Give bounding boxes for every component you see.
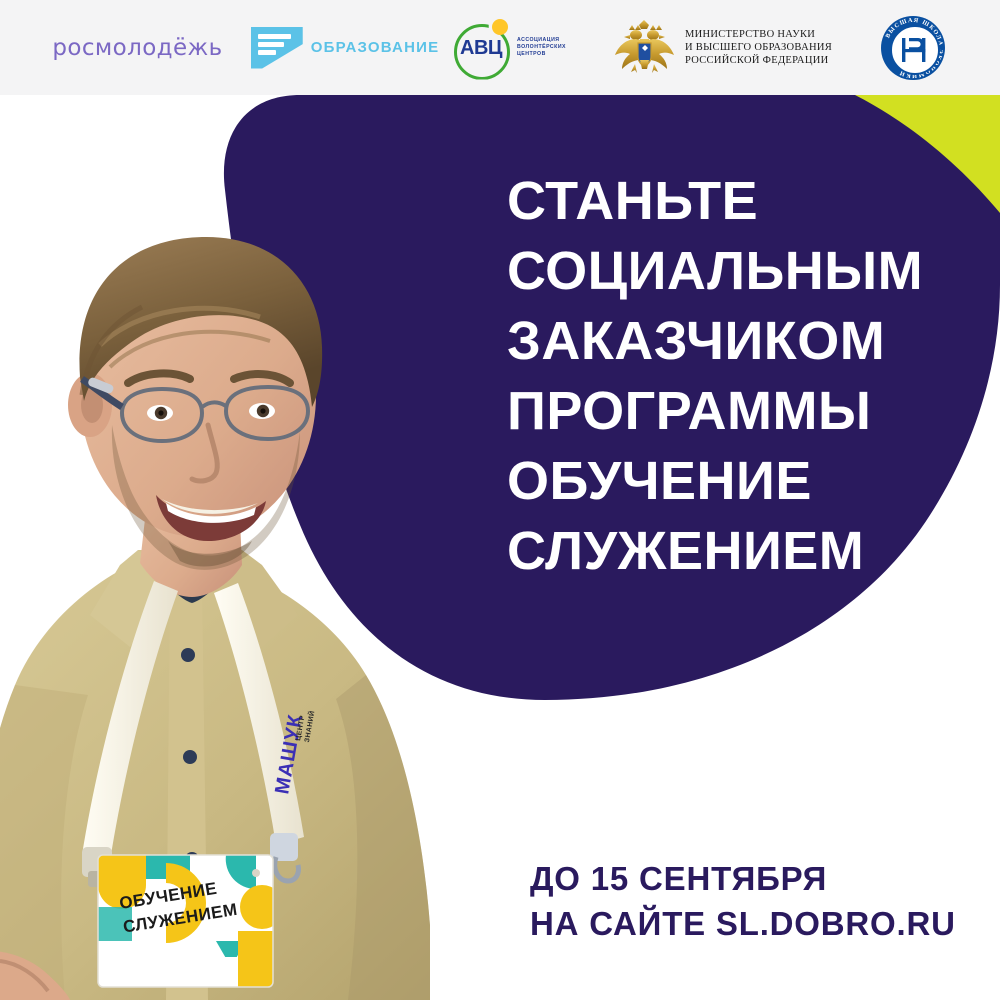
photo-smiling-man: МАШУК ЦЕНТР ЗНАНИЙ — [0, 95, 530, 1000]
logo-avc: АВЦ АССОЦИАЦИЯ ВОЛОНТЁРСКИХ ЦЕНТРОВ — [438, 0, 598, 95]
hse-monogram — [892, 27, 938, 73]
double-headed-eagle-icon — [613, 19, 675, 77]
minobrnauki-line1: МИНИСТЕРСТВО НАУКИ — [685, 28, 832, 41]
avc-abbr: АВЦ — [452, 37, 510, 60]
headline-line-3: ЗАКАЗЧИКОМ — [507, 306, 977, 376]
logo-natsproekty-obrazovanie: ОБРАЗОВАНИЕ — [253, 0, 438, 95]
hse-seal-icon: ВЫСШАЯ ШКОЛА ЭКОНОМИКИ — [881, 16, 945, 80]
minobrnauki-line2: И ВЫСШЕГО ОБРАЗОВАНИЯ — [685, 41, 832, 54]
headline-block: СТАНЬТЕ СОЦИАЛЬНЫМ ЗАКАЗЧИКОМ ПРОГРАММЫ … — [507, 166, 977, 586]
cta-block: ДО 15 СЕНТЯБРЯ НА САЙТЕ SL.DOBRO.RU — [530, 856, 956, 946]
logo-hse: ВЫСШАЯ ШКОЛА ЭКОНОМИКИ — [848, 0, 978, 95]
partner-logo-band: росмолодёжь ОБРАЗОВАНИЕ АВЦ АССОЦИАЦИЯ В… — [0, 0, 1000, 95]
logo-rosmolodezh: росмолодёжь — [23, 0, 253, 95]
poster-canvas: росмолодёжь ОБРАЗОВАНИЕ АВЦ АССОЦИАЦИЯ В… — [0, 0, 1000, 1000]
rosmolodezh-wordmark: росмолодёжь — [52, 35, 222, 61]
headline-line-1: СТАНЬТЕ — [507, 166, 977, 236]
natsproekty-flag-icon — [251, 27, 303, 69]
avc-circle-icon: АВЦ — [452, 19, 510, 77]
headline-line-2: СОЦИАЛЬНЫМ — [507, 236, 977, 306]
cta-website[interactable]: НА САЙТЕ SL.DOBRO.RU — [530, 901, 956, 946]
headline-line-4: ПРОГРАММЫ — [507, 376, 977, 446]
avc-subtitle: АССОЦИАЦИЯ ВОЛОНТЁРСКИХ ЦЕНТРОВ — [517, 37, 583, 58]
headline-line-5: ОБУЧЕНИЕ — [507, 446, 977, 516]
obrazovanie-wordmark: ОБРАЗОВАНИЕ — [311, 39, 440, 56]
logo-minobrnauki: МИНИСТЕРСТВО НАУКИ И ВЫСШЕГО ОБРАЗОВАНИЯ… — [598, 0, 848, 95]
headline-line-6: СЛУЖЕНИЕМ — [507, 516, 977, 586]
minobrnauki-title: МИНИСТЕРСТВО НАУКИ И ВЫСШЕГО ОБРАЗОВАНИЯ… — [685, 28, 832, 67]
minobrnauki-line3: РОССИЙСКОЙ ФЕДЕРАЦИИ — [685, 54, 832, 67]
cta-deadline: ДО 15 СЕНТЯБРЯ — [530, 856, 956, 901]
